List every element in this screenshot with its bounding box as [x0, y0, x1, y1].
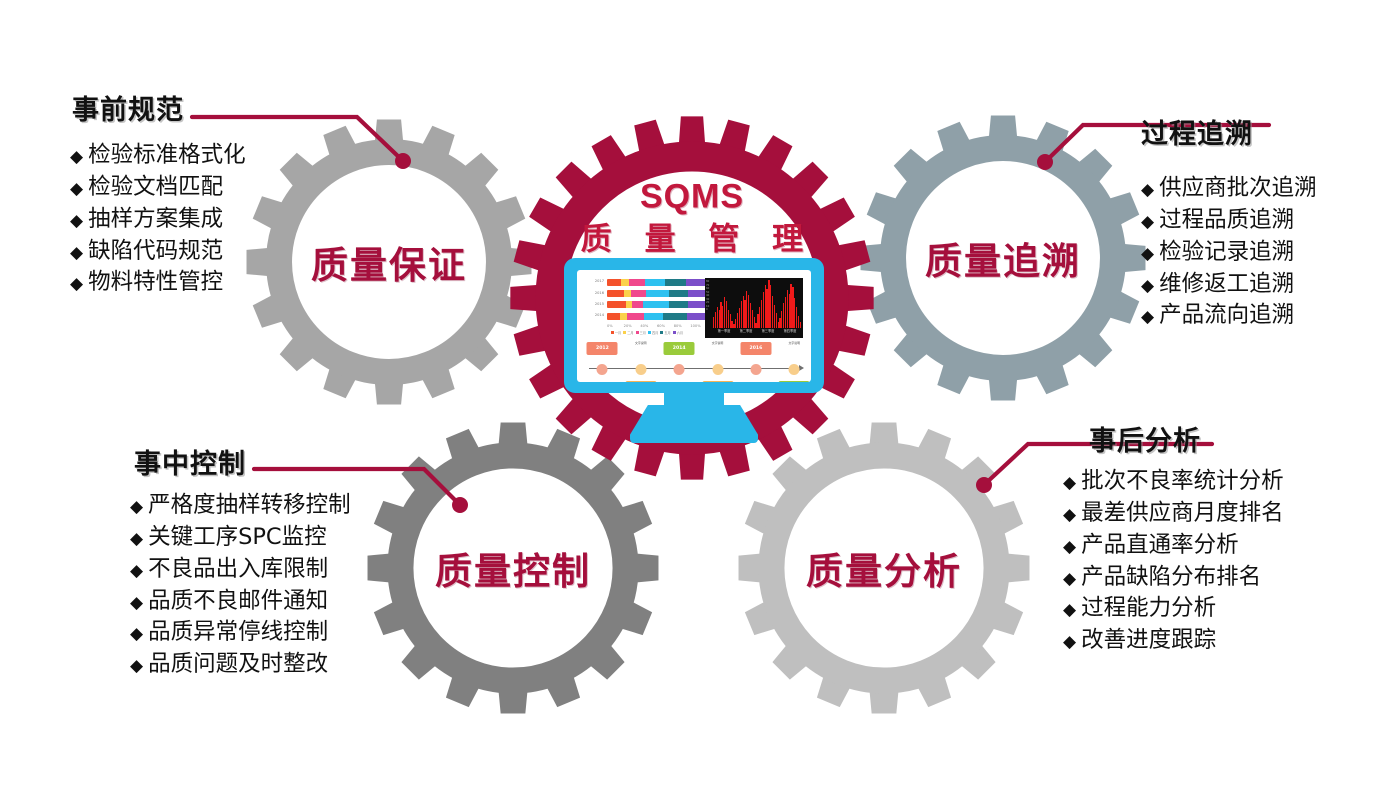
- stacked-bar-segment: [646, 290, 669, 297]
- list-item-label: 不良品出入库限制: [148, 554, 328, 586]
- bullet-diamond-icon: ◆: [130, 499, 143, 516]
- heading-trace: 过程追溯: [1141, 120, 1317, 150]
- bullet-diamond-icon: ◆: [1063, 602, 1076, 619]
- legend-entry: 四月: [648, 330, 658, 335]
- legend-label: 一月: [615, 330, 621, 335]
- list-item-label: 检验标准格式化: [88, 140, 246, 172]
- list-item-label: 关键工序SPC监控: [148, 522, 327, 554]
- bullet-diamond-icon: ◆: [1063, 571, 1076, 588]
- timeline-year-box: 2013: [625, 381, 656, 382]
- list-item: ◆缺陷代码规范: [70, 236, 246, 268]
- stacked-bar-segment: [669, 301, 688, 308]
- list-item: ◆品质问题及时整改: [130, 649, 351, 681]
- gear-label-traceability: 质量追溯: [925, 231, 1081, 285]
- timeline-year-box: 2014: [664, 342, 695, 355]
- timeline-node: [674, 364, 685, 375]
- list-item-label: 品质不良邮件通知: [148, 586, 328, 618]
- legend-entry: 六月: [673, 330, 683, 335]
- list-item: ◆过程品质追溯: [1141, 205, 1317, 237]
- stacked-bar-row-label: 2015: [587, 303, 604, 307]
- stacked-bar-row-label: 2014: [587, 314, 604, 318]
- list-item: ◆检验文档匹配: [70, 172, 246, 204]
- stacked-bar-segment: [643, 301, 669, 308]
- timeline-year-box: 2017: [779, 381, 810, 382]
- bullet-diamond-icon: ◆: [1141, 246, 1154, 263]
- timeline-note: 文字说明: [626, 342, 656, 346]
- timeline-node: [597, 364, 608, 375]
- timeline-node: [712, 364, 723, 375]
- legend-entry: 二月: [623, 330, 633, 335]
- list-item-label: 过程品质追溯: [1159, 205, 1294, 237]
- text-block-trace: 过程追溯 ◆供应商批次追溯◆过程品质追溯◆检验记录追溯◆维修返工追溯◆产品流向追…: [1141, 120, 1317, 332]
- list-item-label: 物料特性管控: [88, 267, 223, 299]
- bullet-diamond-icon: ◆: [1063, 539, 1076, 556]
- list-item-label: 过程能力分析: [1081, 593, 1216, 625]
- stacked-bar-segment: [621, 279, 629, 286]
- list-item: ◆不良品出入库限制: [130, 554, 351, 586]
- diagram-canvas: 质量保证 质量追溯 质量控制 质量分析 SQMS 质 量 管 理 2017201…: [0, 0, 1380, 792]
- list-item: ◆批次不良率统计分析: [1063, 466, 1284, 498]
- legend-swatch: [673, 331, 676, 334]
- list-item: ◆改善进度跟踪: [1063, 625, 1284, 657]
- legend-entry: 五月: [660, 330, 670, 335]
- stacked-bar-row: 2016: [587, 289, 707, 297]
- list-item: ◆产品直通率分析: [1063, 530, 1284, 562]
- legend-swatch: [648, 331, 651, 334]
- legend-label: 四月: [652, 330, 658, 335]
- list-item-label: 缺陷代码规范: [88, 236, 223, 268]
- timeline-axis: [589, 368, 801, 369]
- list-item: ◆产品缺陷分布排名: [1063, 562, 1284, 594]
- dark-bar-chart: 80 70 60 50 40 30 20 10 0 第一季度第二季度第三季度第四…: [705, 278, 803, 338]
- timeline-year-box: 2012: [587, 342, 618, 355]
- hub-acronym: SQMS: [640, 178, 744, 217]
- bullet-diamond-icon: ◆: [1141, 309, 1154, 326]
- bullet-diamond-icon: ◆: [70, 213, 83, 230]
- stacked-bar-segment: [607, 279, 621, 286]
- dark-chart-x-tick: 第二季度: [735, 328, 757, 333]
- stacked-bar-row-label: 2016: [587, 292, 604, 296]
- bullet-diamond-icon: ◆: [130, 658, 143, 675]
- stacked-chart-x-axis: 0%20%40%60%80%100%: [607, 324, 707, 328]
- dark-chart-x-tick: 第三季度: [757, 328, 779, 333]
- bullet-diamond-icon: ◆: [1141, 278, 1154, 295]
- legend-swatch: [623, 331, 626, 334]
- stacked-bar-row: 2014: [587, 312, 707, 320]
- text-block-ctrl: 事中控制 ◆严格度抽样转移控制◆关键工序SPC监控◆不良品出入库限制◆品质不良邮…: [130, 450, 351, 681]
- stacked-bar-segment: [632, 301, 643, 308]
- stacked-chart-legend: 一月二月三月四月五月六月: [587, 330, 707, 335]
- list-item-label: 批次不良率统计分析: [1081, 466, 1284, 498]
- timeline-chart: 2012文字说明2013文字说明2014文字说明2015文字说明2016文字说明…: [585, 342, 803, 382]
- bullet-diamond-icon: ◆: [70, 276, 83, 293]
- bullet-diamond-icon: ◆: [130, 626, 143, 643]
- stacked-bar-row-label: 2017: [587, 280, 604, 284]
- timeline-note: 文字说明: [703, 342, 733, 346]
- legend-label: 五月: [664, 330, 670, 335]
- stacked-bar: [607, 301, 707, 308]
- legend-label: 二月: [627, 330, 633, 335]
- heading-ctrl: 事中控制: [134, 450, 351, 480]
- x-tick-label: 60%: [657, 324, 674, 328]
- legend-swatch: [636, 331, 639, 334]
- stacked-bar-segment: [687, 313, 707, 320]
- stacked-bar-segment: [665, 279, 686, 286]
- bullet-diamond-icon: ◆: [1141, 214, 1154, 231]
- list-item-label: 改善进度跟踪: [1081, 625, 1216, 657]
- bullet-diamond-icon: ◆: [130, 595, 143, 612]
- list-item-label: 产品缺陷分布排名: [1081, 562, 1261, 594]
- stacked-bar-segment: [620, 313, 627, 320]
- stacked-bar: [607, 313, 707, 320]
- list-item: ◆产品流向追溯: [1141, 300, 1317, 332]
- dark-chart-bars: [707, 280, 801, 328]
- list-item-label: 抽样方案集成: [88, 204, 223, 236]
- list-item: ◆品质异常停线控制: [130, 617, 351, 649]
- dark-chart-x-labels: 第一季度第二季度第三季度第四季度: [713, 328, 801, 333]
- legend-entry: 三月: [636, 330, 646, 335]
- list-item: ◆物料特性管控: [70, 267, 246, 299]
- x-tick-label: 0%: [607, 324, 624, 328]
- legend-label: 六月: [677, 330, 683, 335]
- stacked-bar-segment: [669, 290, 688, 297]
- dark-chart-bar: [800, 322, 801, 328]
- stacked-bar-segment: [631, 290, 646, 297]
- list-item: ◆抽样方案集成: [70, 204, 246, 236]
- gear-label-control: 质量控制: [435, 541, 591, 595]
- dark-chart-x-tick: 第一季度: [713, 328, 735, 333]
- monitor-stand-base: [630, 405, 758, 443]
- text-block-pre: 事前规范 ◆检验标准格式化◆检验文档匹配◆抽样方案集成◆缺陷代码规范◆物料特性管…: [70, 96, 246, 299]
- stacked-bar: [607, 290, 707, 297]
- stacked-bar-segment: [627, 313, 644, 320]
- legend-swatch: [611, 331, 614, 334]
- stacked-bar-segment: [607, 290, 624, 297]
- timeline-year-box: 2015: [702, 381, 733, 382]
- list-item: ◆严格度抽样转移控制: [130, 490, 351, 522]
- connector-dot-trace: [1037, 154, 1053, 170]
- x-tick-label: 80%: [674, 324, 691, 328]
- text-block-ana: 事后分析 ◆批次不良率统计分析◆最差供应商月度排名◆产品直通率分析◆产品缺陷分布…: [1063, 427, 1284, 657]
- list-item: ◆检验标准格式化: [70, 140, 246, 172]
- list-item: ◆维修返工追溯: [1141, 269, 1317, 301]
- gear-label-analysis: 质量分析: [806, 541, 962, 595]
- stacked-bar-segment: [644, 313, 663, 320]
- list-item-label: 检验记录追溯: [1159, 237, 1294, 269]
- list-item-label: 维修返工追溯: [1159, 269, 1294, 301]
- bullet-diamond-icon: ◆: [70, 245, 83, 262]
- connector-dot-pre: [395, 153, 411, 169]
- stacked-bar-segment: [663, 313, 687, 320]
- stacked-bar-segment: [624, 290, 631, 297]
- stacked-bar-row: 2015: [587, 301, 707, 309]
- timeline-node: [789, 364, 800, 375]
- list-item: ◆过程能力分析: [1063, 593, 1284, 625]
- bullet-diamond-icon: ◆: [70, 181, 83, 198]
- heading-ana: 事后分析: [1089, 427, 1284, 457]
- legend-swatch: [660, 331, 663, 334]
- list-item-label: 严格度抽样转移控制: [148, 490, 351, 522]
- stacked-bar-segment: [607, 313, 620, 320]
- bullet-diamond-icon: ◆: [1063, 507, 1076, 524]
- stacked-bar: [607, 279, 707, 286]
- list-item-label: 最差供应商月度排名: [1081, 498, 1284, 530]
- timeline-arrow-icon: [799, 365, 804, 371]
- bullet-diamond-icon: ◆: [70, 149, 83, 166]
- list-item-label: 产品流向追溯: [1159, 300, 1294, 332]
- legend-entry: 一月: [611, 330, 621, 335]
- timeline-node: [750, 364, 761, 375]
- timeline-note: 文字说明: [779, 342, 809, 346]
- timeline-node: [635, 364, 646, 375]
- list-item-label: 供应商批次追溯: [1159, 173, 1317, 205]
- list-item-label: 品质异常停线控制: [148, 617, 328, 649]
- list-ana: ◆批次不良率统计分析◆最差供应商月度排名◆产品直通率分析◆产品缺陷分布排名◆过程…: [1063, 466, 1284, 658]
- list-item: ◆检验记录追溯: [1141, 237, 1317, 269]
- stacked-bar-chart: 20172016201520140%20%40%60%80%100%一月二月三月…: [587, 278, 707, 334]
- stacked-bar-segment: [686, 279, 707, 286]
- bullet-diamond-icon: ◆: [130, 531, 143, 548]
- monitor-screen: 20172016201520140%20%40%60%80%100%一月二月三月…: [577, 270, 811, 382]
- connector-dot-ctrl: [452, 497, 468, 513]
- heading-pre: 事前规范: [72, 96, 246, 126]
- stacked-bar-segment: [629, 279, 645, 286]
- bullet-diamond-icon: ◆: [1063, 475, 1076, 492]
- list-pre: ◆检验标准格式化◆检验文档匹配◆抽样方案集成◆缺陷代码规范◆物料特性管控: [70, 140, 246, 300]
- gear-label-assurance: 质量保证: [311, 235, 467, 289]
- bullet-diamond-icon: ◆: [1063, 634, 1076, 651]
- timeline-year-box: 2016: [740, 342, 771, 355]
- bullet-diamond-icon: ◆: [130, 563, 143, 580]
- bullet-diamond-icon: ◆: [1141, 182, 1154, 199]
- list-ctrl: ◆严格度抽样转移控制◆关键工序SPC监控◆不良品出入库限制◆品质不良邮件通知◆品…: [130, 490, 351, 682]
- stacked-bar-segment: [645, 279, 665, 286]
- list-item-label: 检验文档匹配: [88, 172, 223, 204]
- monitor-illustration: 20172016201520140%20%40%60%80%100%一月二月三月…: [564, 258, 824, 393]
- list-item: ◆品质不良邮件通知: [130, 586, 351, 618]
- dark-chart-x-tick: 第四季度: [779, 328, 801, 333]
- list-item-label: 品质问题及时整改: [148, 649, 328, 681]
- connector-dot-ana: [976, 477, 992, 493]
- legend-label: 三月: [640, 330, 646, 335]
- list-trace: ◆供应商批次追溯◆过程品质追溯◆检验记录追溯◆维修返工追溯◆产品流向追溯: [1141, 173, 1317, 333]
- x-tick-label: 20%: [624, 324, 641, 328]
- stacked-bar-segment: [607, 301, 626, 308]
- stacked-bar-row: 2017: [587, 278, 707, 286]
- x-tick-label: 40%: [640, 324, 657, 328]
- hub-subtitle: 质 量 管 理: [570, 214, 814, 259]
- list-item: ◆最差供应商月度排名: [1063, 498, 1284, 530]
- list-item: ◆供应商批次追溯: [1141, 173, 1317, 205]
- list-item: ◆关键工序SPC监控: [130, 522, 351, 554]
- list-item-label: 产品直通率分析: [1081, 530, 1239, 562]
